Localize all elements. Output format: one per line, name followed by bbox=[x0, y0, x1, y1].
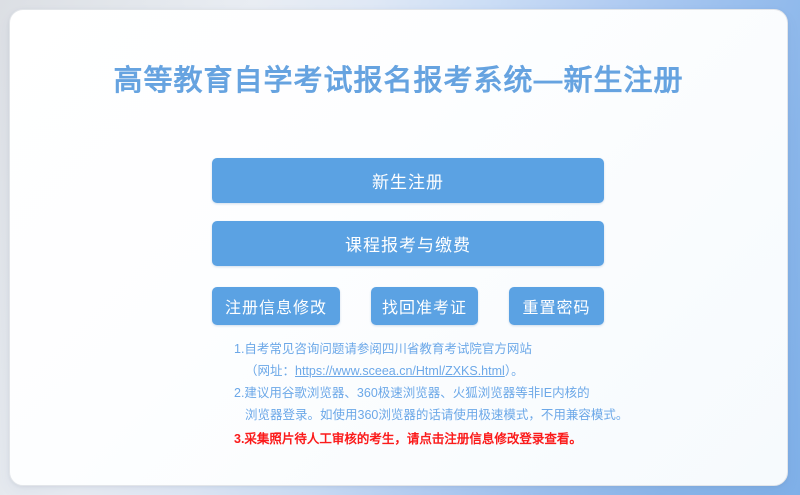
note-2-line-1: 2.建议用谷歌浏览器、360极速浏览器、火狐浏览器等非IE内核的 bbox=[234, 382, 634, 404]
reset-password-button[interactable]: 重置密码 bbox=[509, 287, 604, 325]
course-registration-payment-button[interactable]: 课程报考与缴费 bbox=[212, 221, 604, 266]
note-3-warning: 3.采集照片待人工审核的考生，请点击注册信息修改登录查看。 bbox=[234, 428, 634, 450]
note-1-line-2: （网址：https://www.sceea.cn/Html/ZXKS.html）… bbox=[234, 360, 634, 382]
notes-block: 1.自考常见咨询问题请参阅四川省教育考试院官方网站 （网址：https://ww… bbox=[234, 338, 634, 450]
note-1-line-1: 1.自考常见咨询问题请参阅四川省教育考试院官方网站 bbox=[234, 338, 634, 360]
page-title: 高等教育自学考试报名报考系统—新生注册 bbox=[10, 57, 787, 99]
main-card: 高等教育自学考试报名报考系统—新生注册 新生注册 课程报考与缴费 注册信息修改 … bbox=[9, 9, 788, 486]
modify-registration-info-button[interactable]: 注册信息修改 bbox=[212, 287, 340, 325]
note-1-url-suffix: ）。 bbox=[505, 364, 524, 378]
note-1-url-prefix: （网址： bbox=[245, 364, 295, 378]
note-2-line-2: 浏览器登录。如使用360浏览器的话请使用极速模式，不用兼容模式。 bbox=[234, 404, 634, 426]
page-root: 高等教育自学考试报名报考系统—新生注册 新生注册 课程报考与缴费 注册信息修改 … bbox=[0, 0, 800, 495]
retrieve-exam-ticket-button[interactable]: 找回准考证 bbox=[371, 287, 478, 325]
new-register-button[interactable]: 新生注册 bbox=[212, 158, 604, 203]
sceea-website-link[interactable]: https://www.sceea.cn/Html/ZXKS.html bbox=[295, 364, 505, 378]
